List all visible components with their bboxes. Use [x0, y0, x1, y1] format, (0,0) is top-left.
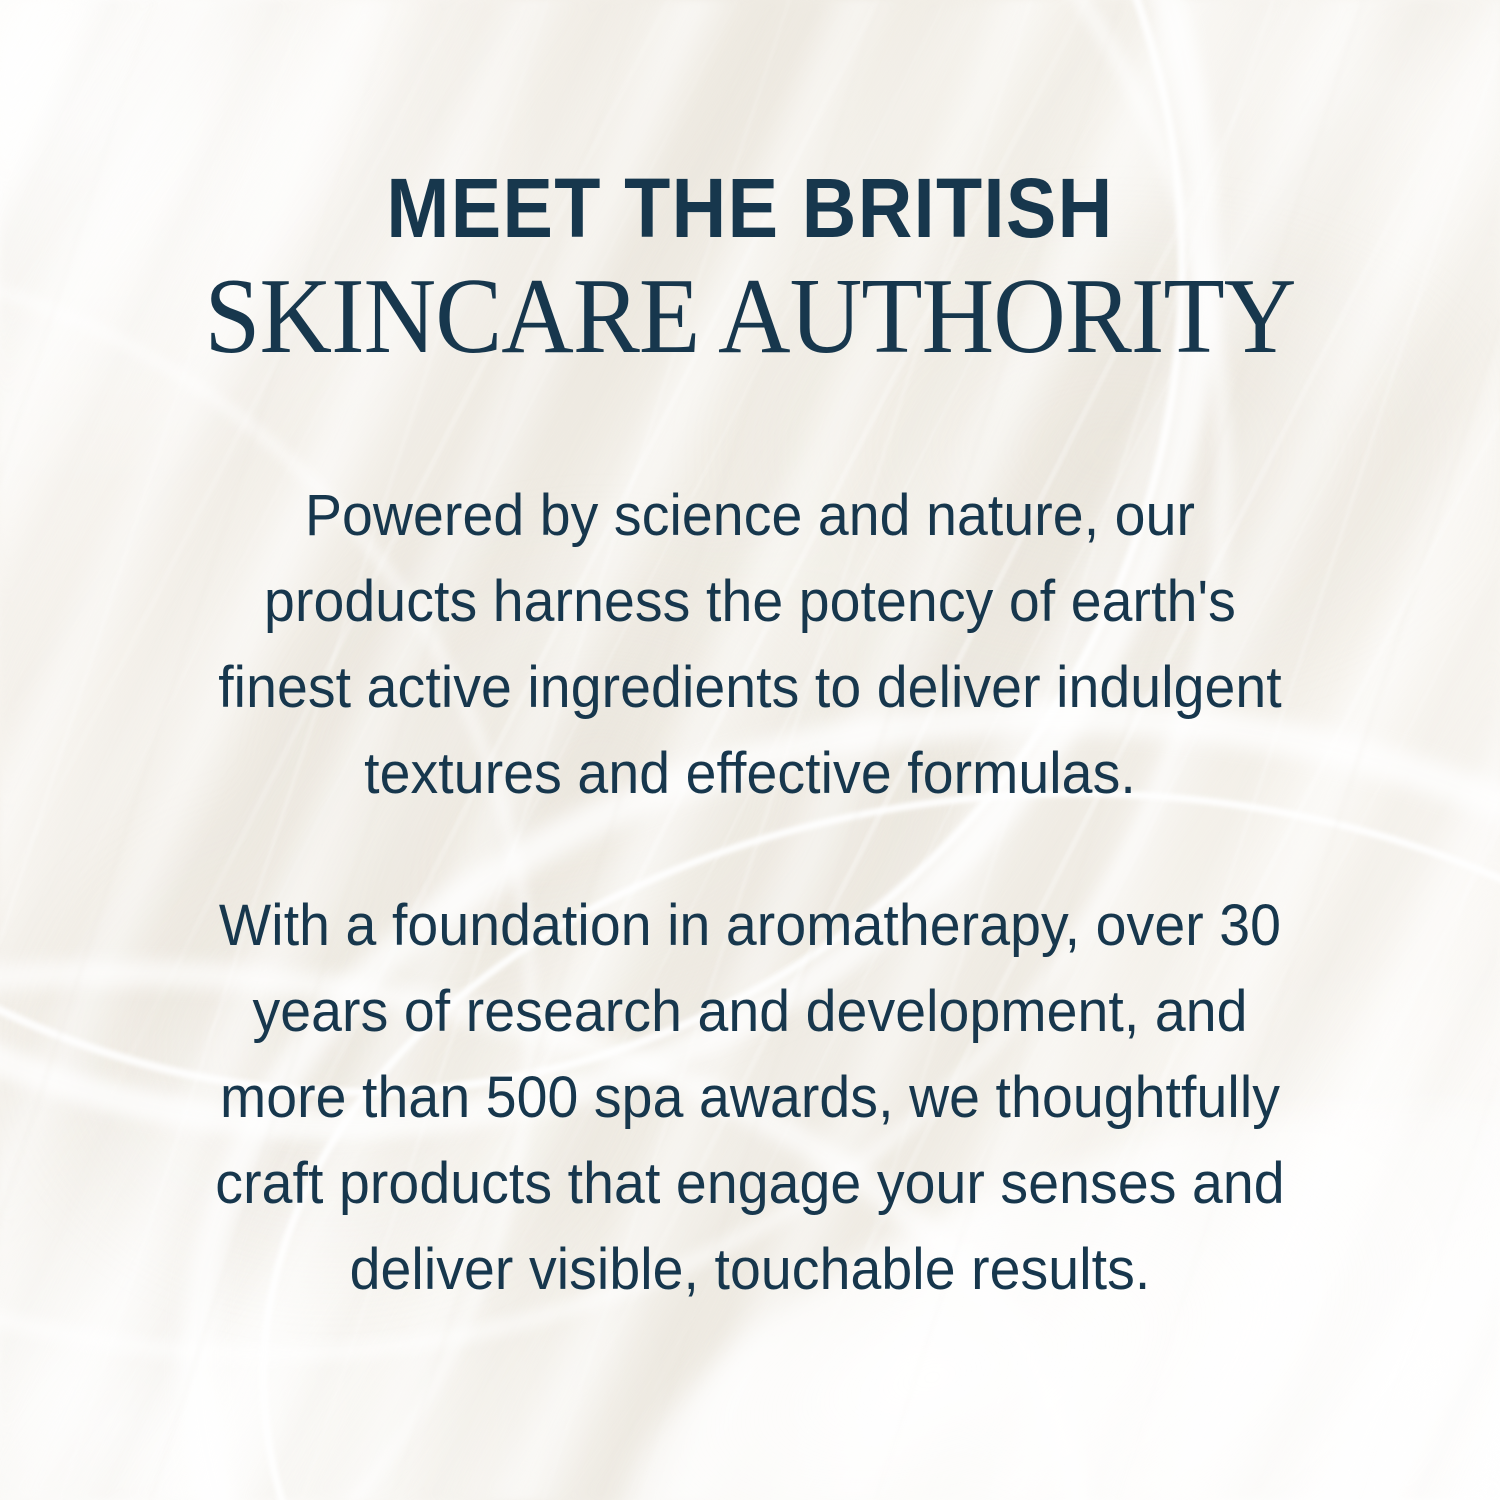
paragraph-one-line: textures and effective formulas.	[144, 731, 1357, 817]
body-copy-block: Powered by science and nature, our produ…	[115, 371, 1385, 1313]
heading-block: MEET THE BRITISH SKINCARE AUTHORITY	[0, 168, 1500, 371]
paragraph-two-line: more than 500 spa awards, we thoughtfull…	[144, 1055, 1357, 1141]
paragraph-two: With a foundation in aromatherapy, over …	[144, 883, 1357, 1313]
paragraph-one-line: finest active ingredients to deliver ind…	[144, 645, 1357, 731]
paragraph-two-line: With a foundation in aromatherapy, over …	[144, 883, 1357, 969]
paragraph-one-line: products harness the potency of earth's	[144, 559, 1357, 645]
paragraph-two-line: years of research and development, and	[144, 969, 1357, 1055]
headline-primary: MEET THE BRITISH	[75, 168, 1425, 249]
paragraph-two-line: deliver visible, touchable results.	[144, 1227, 1357, 1313]
promotional-brand-card: MEET THE BRITISH SKINCARE AUTHORITY Powe…	[0, 0, 1500, 1500]
paragraph-one-line: Powered by science and nature, our	[144, 473, 1357, 559]
headline-secondary: SKINCARE AUTHORITY	[53, 263, 1448, 371]
paragraph-one: Powered by science and nature, our produ…	[144, 473, 1357, 817]
content-container: MEET THE BRITISH SKINCARE AUTHORITY Powe…	[0, 0, 1500, 1500]
paragraph-two-line: craft products that engage your senses a…	[144, 1141, 1357, 1227]
